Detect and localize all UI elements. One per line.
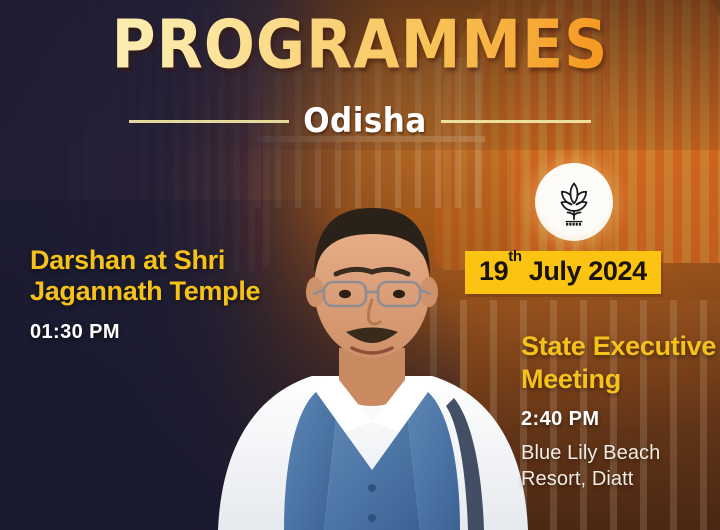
event-block-right: State Executive Meeting 2:40 PM Blue Lil…	[521, 330, 720, 492]
subtitle-row: Odisha	[0, 103, 720, 139]
page-title: PROGRAMMES	[0, 6, 720, 84]
date-badge: 19th July 2024	[465, 251, 661, 294]
bjp-lotus-logo	[535, 163, 613, 241]
lotus-caption-glyphs	[566, 221, 583, 226]
event-heading: State Executive Meeting	[521, 330, 720, 396]
date-month-year: July 2024	[529, 256, 647, 286]
event-time: 2:40 PM	[521, 408, 720, 431]
portrait-politician	[196, 170, 546, 530]
event-venue: Blue Lily Beach Resort, Diatt	[521, 440, 720, 492]
date-day: 19	[479, 256, 508, 286]
lotus-icon	[547, 175, 601, 229]
date-ordinal: th	[508, 248, 521, 265]
poster-subtitle: Odisha	[303, 102, 427, 141]
divider-right-icon	[441, 120, 591, 123]
poster-title-group: PUBLIC PROGRAMMES	[0, 0, 720, 80]
event-poster: PUBLIC PROGRAMMES Odisha	[0, 0, 720, 530]
divider-left-icon	[129, 120, 289, 123]
